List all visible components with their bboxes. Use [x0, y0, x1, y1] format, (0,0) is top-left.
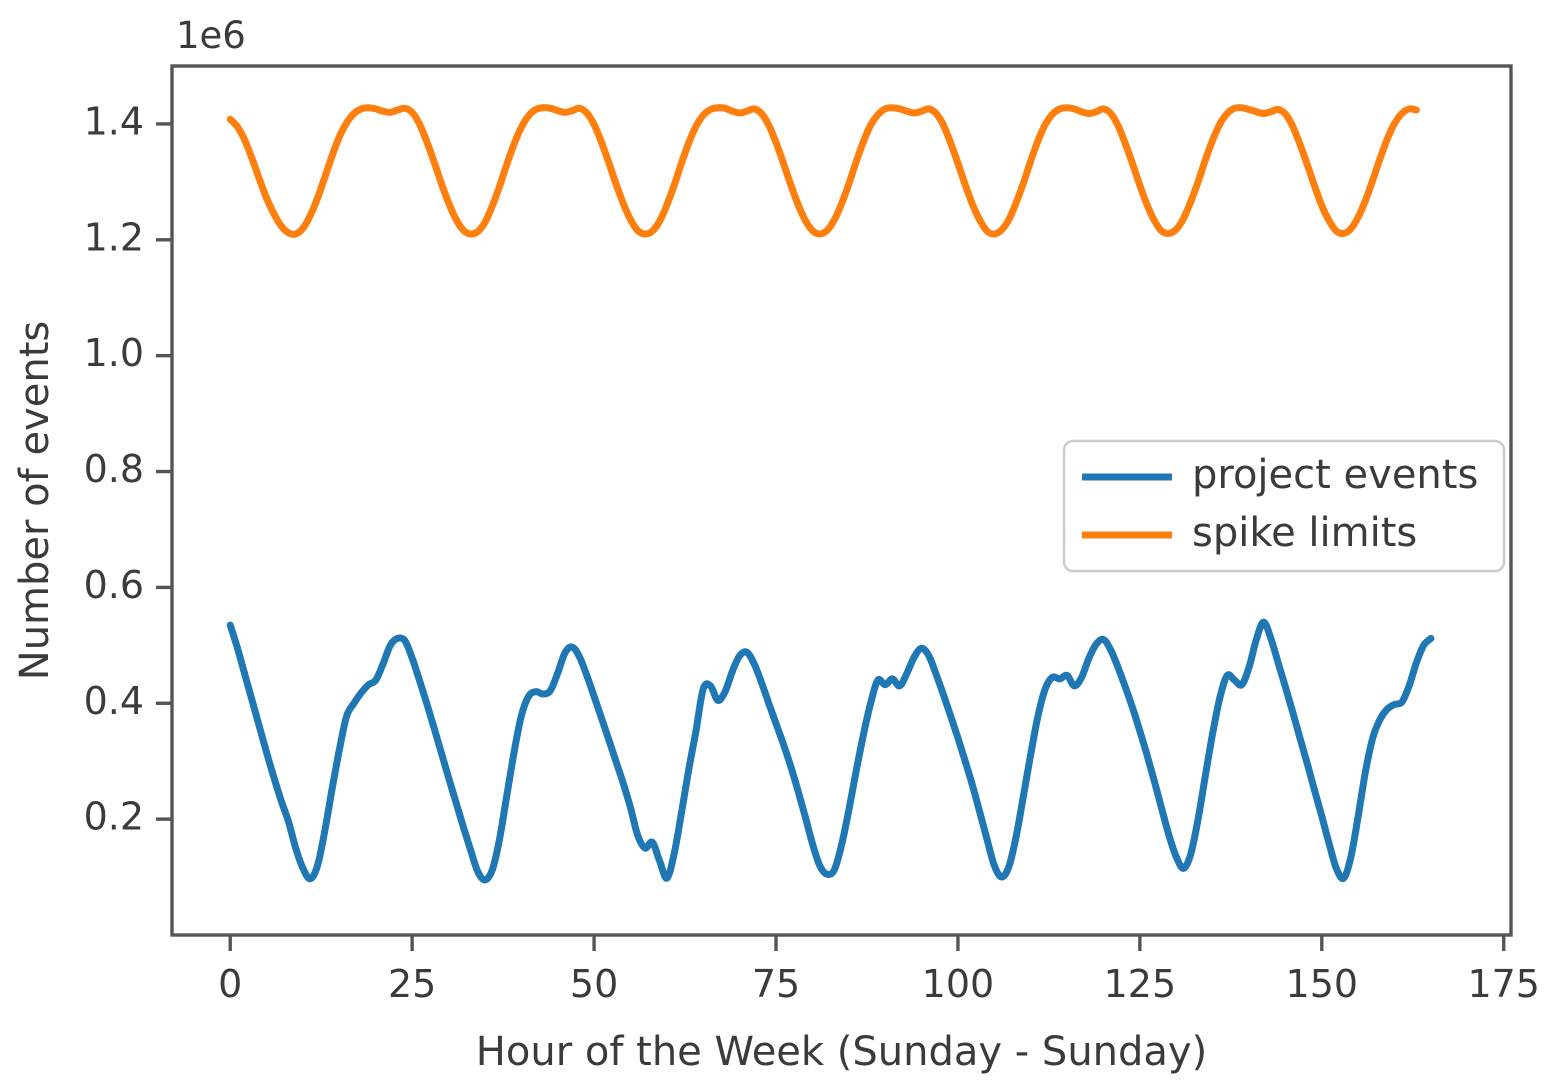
y-tick-label: 1.2: [84, 215, 144, 259]
y-axis-offset-label: 1e6: [176, 14, 246, 57]
y-tick-label: 0.8: [84, 447, 144, 491]
matplotlib-figure: 0255075100125150175 0.20.40.60.81.01.21.…: [0, 0, 1564, 1080]
y-tick-label: 1.4: [84, 99, 144, 143]
y-tick-label: 1.0: [84, 331, 144, 375]
chart-canvas: 0255075100125150175 0.20.40.60.81.01.21.…: [0, 0, 1564, 1080]
x-tick-label: 125: [1104, 962, 1177, 1006]
y-tick-label: 0.6: [84, 563, 144, 607]
legend-label-spike-limits[interactable]: spike limits: [1192, 510, 1417, 556]
y-axis-label: Number of events: [12, 321, 58, 680]
y-tick-label: 0.4: [84, 679, 144, 723]
x-tick-label: 100: [922, 962, 995, 1006]
x-axis-label: Hour of the Week (Sunday - Sunday): [476, 1029, 1207, 1075]
x-tick-label: 50: [570, 962, 618, 1006]
x-tick-label: 175: [1467, 962, 1540, 1006]
x-tick-label: 0: [218, 962, 242, 1006]
x-tick-label: 150: [1286, 962, 1359, 1006]
chart-legend[interactable]: project events spike limits: [1064, 441, 1504, 571]
legend-label-project-events[interactable]: project events: [1192, 452, 1478, 498]
x-tick-label: 75: [752, 962, 800, 1006]
y-tick-label: 0.2: [84, 795, 144, 839]
x-tick-label: 25: [388, 962, 436, 1006]
